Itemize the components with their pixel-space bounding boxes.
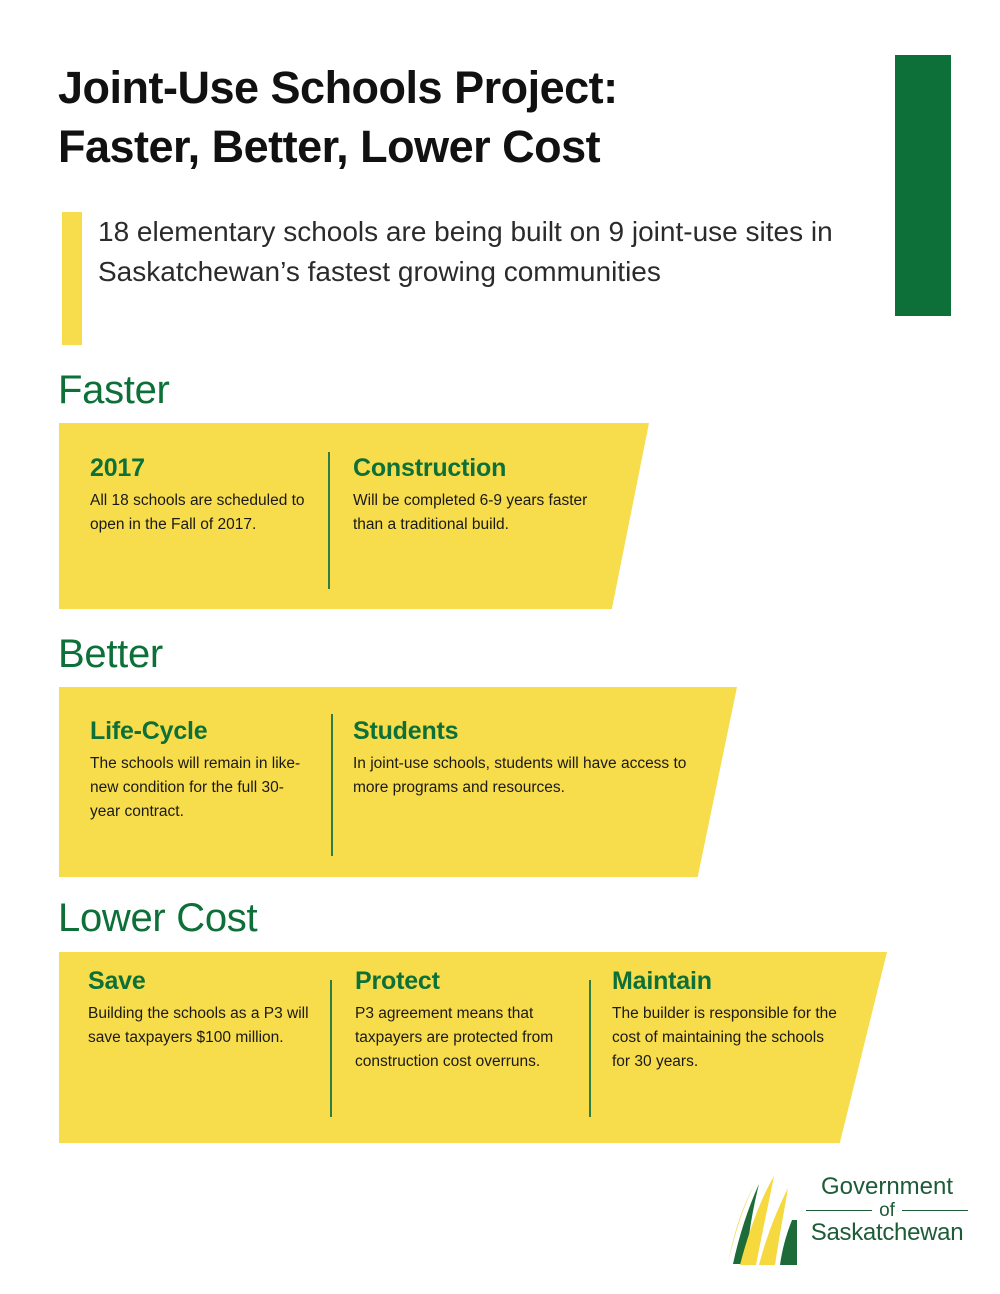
card-title: Construction [353, 455, 613, 483]
infographic-page: Joint-Use Schools Project: Faster, Bette… [0, 0, 1000, 1294]
card-life-cycle: Life-Cycle The schools will remain in li… [90, 718, 305, 824]
card-body: All 18 schools are scheduled to open in … [90, 489, 305, 537]
page-subtitle: 18 elementary schools are being built on… [98, 212, 888, 292]
card-title: Maintain [612, 968, 837, 996]
wheat-sheaf-icon [726, 1172, 800, 1270]
card-maintain: Maintain The builder is responsible for … [612, 968, 837, 1074]
logo-rule-left [806, 1210, 872, 1212]
logo-line-saskatchewan: Saskatchewan [806, 1220, 968, 1246]
card-save: Save Building the schools as a P3 will s… [88, 968, 318, 1050]
yellow-accent-bar [62, 212, 82, 345]
logo-wordmark: Government of Saskatchewan [806, 1174, 968, 1246]
card-body: P3 agreement means that taxpayers are pr… [355, 1002, 580, 1075]
card-title: Life-Cycle [90, 718, 305, 746]
card-2017: 2017 All 18 schools are scheduled to ope… [90, 455, 305, 537]
card-body: Building the schools as a P3 will save t… [88, 1002, 318, 1050]
card-title: Protect [355, 968, 580, 996]
section-heading-faster: Faster [58, 370, 170, 410]
page-title-line-2: Faster, Better, Lower Cost [58, 117, 868, 176]
card-body: In joint-use schools, students will have… [353, 752, 693, 800]
card-protect: Protect P3 agreement means that taxpayer… [355, 968, 580, 1074]
card-students: Students In joint-use schools, students … [353, 718, 693, 800]
page-title: Joint-Use Schools Project: Faster, Bette… [58, 58, 868, 177]
logo-rule-right [902, 1210, 968, 1212]
card-divider [331, 714, 333, 856]
page-title-line-1: Joint-Use Schools Project: [58, 58, 868, 117]
card-body: The builder is responsible for the cost … [612, 1002, 837, 1075]
green-accent-bar [895, 55, 951, 316]
section-heading-lower-cost: Lower Cost [58, 898, 257, 938]
card-divider [330, 980, 332, 1117]
logo-line-of: of [879, 1201, 895, 1220]
card-divider [328, 452, 330, 589]
section-heading-better: Better [58, 634, 163, 674]
government-of-saskatchewan-logo: Government of Saskatchewan [726, 1172, 966, 1272]
logo-of-row: of [806, 1201, 968, 1220]
logo-line-government: Government [806, 1174, 968, 1200]
card-title: Students [353, 718, 693, 746]
card-title: 2017 [90, 455, 305, 483]
card-divider [589, 980, 591, 1117]
card-body: Will be completed 6-9 years faster than … [353, 489, 613, 537]
card-title: Save [88, 968, 318, 996]
card-construction: Construction Will be completed 6-9 years… [353, 455, 613, 537]
card-body: The schools will remain in like-new cond… [90, 752, 305, 825]
